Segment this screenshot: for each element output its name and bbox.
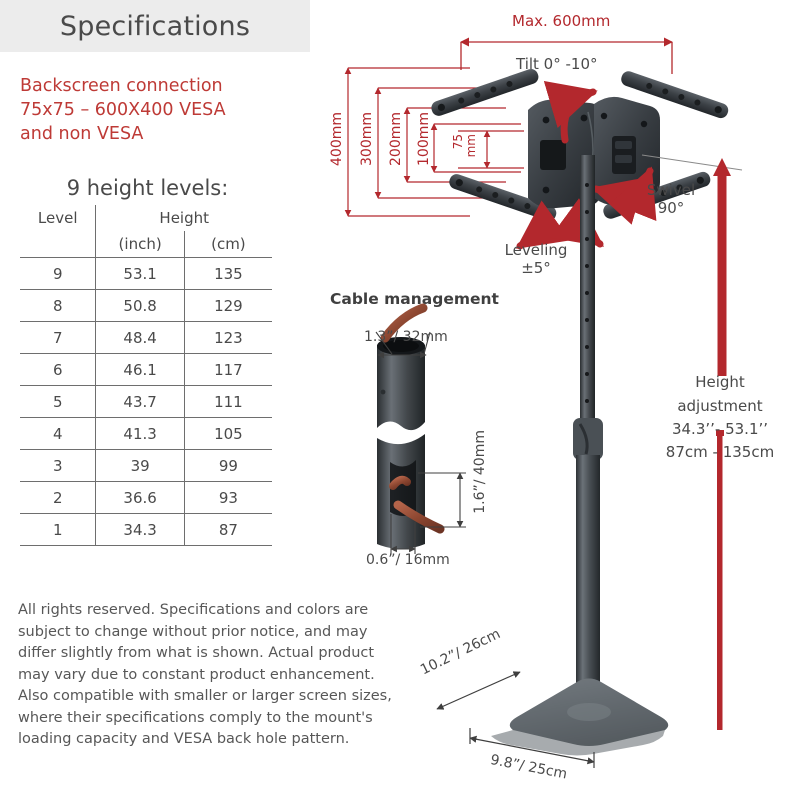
cell-level: 6	[20, 354, 96, 386]
label-height-adjustment-line1: Height	[650, 374, 790, 391]
cell-level: 7	[20, 322, 96, 354]
tilt-arrow	[564, 92, 593, 140]
table-header-row-1: Level Height	[20, 205, 272, 231]
intro-line-3: and non VESA	[20, 122, 290, 146]
height-levels-table: Level Height (inch) (cm) 9 53.1 135 8 50…	[20, 205, 272, 546]
cell-inch: 36.6	[96, 482, 184, 514]
label-height-adjustment-line2: adjustment	[650, 398, 790, 415]
table-row: 8 50.8 129	[20, 290, 272, 322]
intro-line-1: Backscreen connection	[20, 74, 290, 98]
backscreen-connection-note: Backscreen connection 75x75 – 600X400 VE…	[20, 74, 290, 146]
cell-cm: 129	[184, 290, 272, 322]
label-vesa-75-unit: mm	[464, 134, 479, 157]
cell-cm: 99	[184, 450, 272, 482]
cable-management-title: Cable management	[330, 291, 499, 308]
table-row: 2 36.6 93	[20, 482, 272, 514]
label-cable-slot-height: 1.6”/ 40mm	[472, 430, 489, 514]
product-base	[491, 679, 668, 756]
label-base-width: 9.8”/ 25cm	[489, 752, 569, 784]
table-row: 4 41.3 105	[20, 418, 272, 450]
label-base-depth: 10.2”/ 26cm	[418, 626, 503, 679]
label-leveling-line1: Leveling	[496, 242, 576, 259]
cell-inch: 53.1	[96, 258, 184, 290]
cell-cm: 135	[184, 258, 272, 290]
table-row: 1 34.3 87	[20, 514, 272, 546]
cell-level: 4	[20, 418, 96, 450]
spec-sheet-page: Specifications Backscreen connection 75x…	[0, 0, 800, 800]
cell-cm: 87	[184, 514, 272, 546]
label-cable-top-opening: 1.3”/ 32mm	[364, 329, 448, 346]
table-row: 9 53.1 135	[20, 258, 272, 290]
cell-inch: 46.1	[96, 354, 184, 386]
cell-level: 9	[20, 258, 96, 290]
label-vesa-200: 200mm	[389, 112, 404, 166]
column-header-spacer	[20, 231, 96, 258]
cell-level: 5	[20, 386, 96, 418]
label-vesa-100: 100mm	[417, 112, 432, 166]
cell-inch: 34.3	[96, 514, 184, 546]
disclaimer-text: All rights reserved. Specifications and …	[18, 600, 403, 751]
page-title: Specifications	[0, 0, 310, 52]
label-vesa-400: 400mm	[330, 112, 345, 166]
cell-level: 2	[20, 482, 96, 514]
label-leveling-line2: ±5°	[496, 260, 576, 277]
column-header-height: Height	[96, 205, 272, 231]
label-swivel-line2: 90°	[636, 200, 706, 217]
label-swivel-line1: Swivel	[636, 182, 706, 199]
cell-cm: 93	[184, 482, 272, 514]
label-max-width: Max. 600mm	[512, 14, 610, 29]
label-height-adjustment-line3: 34.3’’- 53.1’’	[650, 421, 790, 438]
label-height-adjustment-line4: 87cm - 135cm	[650, 444, 790, 461]
telescoping-pole	[573, 155, 603, 710]
table-row: 7 48.4 123	[20, 322, 272, 354]
table-row: 6 46.1 117	[20, 354, 272, 386]
table-row: 3 39 99	[20, 450, 272, 482]
column-header-cm: (cm)	[184, 231, 272, 258]
table-row: 5 43.7 111	[20, 386, 272, 418]
cell-level: 8	[20, 290, 96, 322]
cell-cm: 117	[184, 354, 272, 386]
height-levels-heading: 9 height levels:	[20, 176, 275, 200]
cell-inch: 39	[96, 450, 184, 482]
label-tilt: Tilt 0° -10°	[516, 56, 598, 73]
height-adjustment-leader	[642, 155, 742, 170]
cell-inch: 41.3	[96, 418, 184, 450]
dimension-base-depth	[437, 672, 520, 709]
cell-level: 1	[20, 514, 96, 546]
cell-cm: 123	[184, 322, 272, 354]
column-header-inch: (inch)	[96, 231, 184, 258]
cell-inch: 43.7	[96, 386, 184, 418]
cell-level: 3	[20, 450, 96, 482]
label-cable-slot-width: 0.6”/ 16mm	[366, 552, 450, 569]
column-header-level: Level	[20, 205, 96, 231]
cell-inch: 50.8	[96, 290, 184, 322]
intro-line-2: 75x75 – 600X400 VESA	[20, 98, 290, 122]
cell-inch: 48.4	[96, 322, 184, 354]
table-header-row-2: (inch) (cm)	[20, 231, 272, 258]
label-vesa-300: 300mm	[360, 112, 375, 166]
cell-cm: 111	[184, 386, 272, 418]
cell-cm: 105	[184, 418, 272, 450]
